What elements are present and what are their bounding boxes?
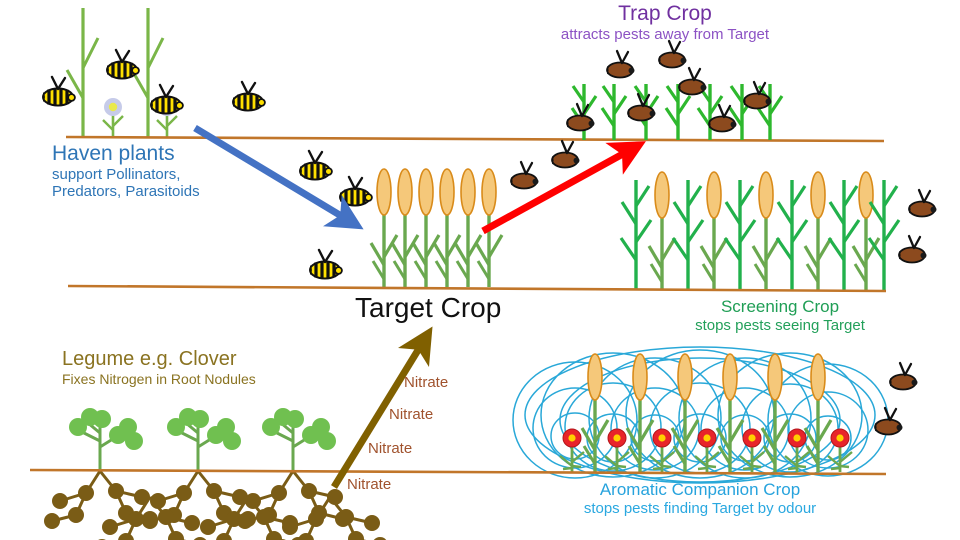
nitrate-label: Nitrate xyxy=(347,476,391,493)
diagram-graphics xyxy=(0,0,960,540)
screening-crop-group xyxy=(621,172,899,290)
haven-plants-subtitle-line1: support Pollinators, xyxy=(52,166,200,183)
diagram-canvas: Haven plants support Pollinators, Predat… xyxy=(0,0,960,540)
trap-crop-subtitle: attracts pests away from Target xyxy=(545,26,785,43)
nitrate-label: Nitrate xyxy=(368,440,412,457)
screening-crop-title: Screening Crop xyxy=(660,297,900,317)
aromatic-crop-title: Aromatic Companion Crop xyxy=(540,480,860,500)
trap-crop-label: Trap Crop attracts pests away from Targe… xyxy=(545,2,785,43)
legume-label: Legume e.g. Clover Fixes Nitrogen in Roo… xyxy=(62,348,256,387)
nitrate-label: Nitrate xyxy=(389,406,433,423)
legume-title: Legume e.g. Clover xyxy=(62,348,256,371)
trap-crop-title: Trap Crop xyxy=(545,2,785,26)
ground-line-middle xyxy=(68,286,886,291)
nitrate-label: Nitrate xyxy=(404,374,448,391)
screening-crop-label: Screening Crop stops pests seeing Target xyxy=(660,297,900,334)
ground-line-upper xyxy=(66,137,884,141)
aromatic-crop-subtitle: stops pests finding Target by odour xyxy=(540,500,860,517)
target-crop-label: Target Crop xyxy=(355,292,501,324)
legume-clover-group xyxy=(44,408,388,540)
aromatic-crop-label: Aromatic Companion Crop stops pests find… xyxy=(540,480,860,517)
haven-plants-label: Haven plants support Pollinators, Predat… xyxy=(52,142,200,201)
haven-plants-title: Haven plants xyxy=(52,142,200,166)
screening-crop-subtitle: stops pests seeing Target xyxy=(660,317,900,334)
legume-subtitle: Fixes Nitrogen in Root Nodules xyxy=(62,371,256,387)
trap-crop-group xyxy=(572,84,782,140)
haven-plants-subtitle-line2: Predators, Parasitoids xyxy=(52,183,200,200)
